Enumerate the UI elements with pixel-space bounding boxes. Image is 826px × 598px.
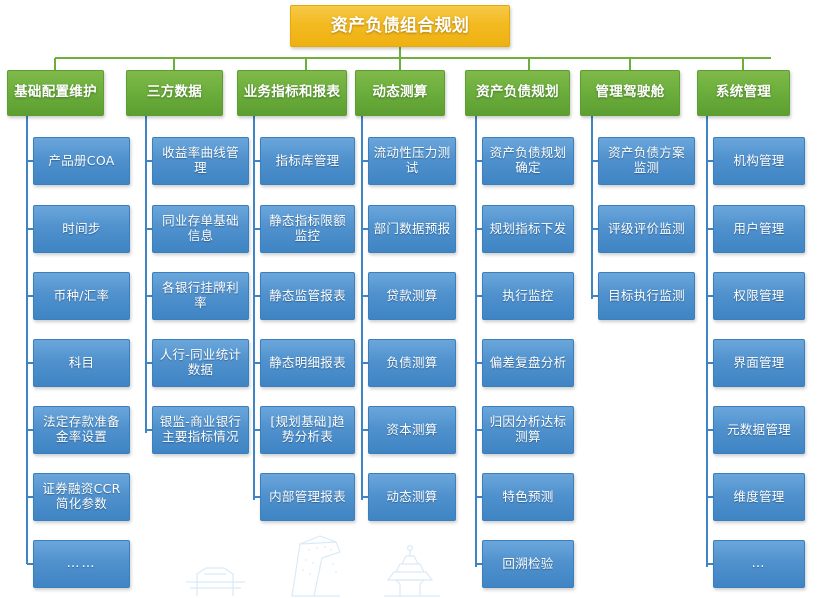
leaf-node-c2-5[interactable]: 银监-商业银行主要指标情况 xyxy=(152,406,249,454)
leaf-node-c1-2[interactable]: 时间步 xyxy=(33,205,130,253)
leaf-node-c1-7[interactable]: …… xyxy=(33,540,130,588)
leaf-node-c5-3[interactable]: 执行监控 xyxy=(482,272,574,320)
leaf-node-c2-1[interactable]: 收益率曲线管理 xyxy=(152,137,249,185)
leaf-node-c7-6[interactable]: 维度管理 xyxy=(713,473,805,521)
leaf-node-c4-1[interactable]: 流动性压力测试 xyxy=(368,137,456,185)
category-node-3[interactable]: 业务指标和报表 xyxy=(237,70,347,116)
leaf-node-c3-6[interactable]: 内部管理报表 xyxy=(260,473,355,521)
leaf-node-c5-5[interactable]: 归因分析达标测算 xyxy=(482,406,574,454)
leaf-node-c6-3[interactable]: 目标执行监测 xyxy=(598,272,695,320)
diagram-canvas: 资产负债组合规划 基础配置维护 三方数据 业务指标和报表 动态测算 资产负债规划… xyxy=(0,0,826,598)
leaf-node-c7-7[interactable]: … xyxy=(713,540,805,588)
leaf-node-c5-6[interactable]: 特色预测 xyxy=(482,473,574,521)
leaf-node-c5-4[interactable]: 偏差复盘分析 xyxy=(482,339,574,387)
root-node[interactable]: 资产负债组合规划 xyxy=(290,5,510,47)
leaf-node-c4-5[interactable]: 资本测算 xyxy=(368,406,456,454)
category-node-1[interactable]: 基础配置维护 xyxy=(7,70,104,116)
leaf-node-c1-1[interactable]: 产品册COA xyxy=(33,137,130,185)
leaf-node-c6-2[interactable]: 评级评价监测 xyxy=(598,205,695,253)
leaf-node-c4-2[interactable]: 部门数据预报 xyxy=(368,205,456,253)
leaf-node-c2-2[interactable]: 同业存单基础信息 xyxy=(152,205,249,253)
leaf-node-c5-7[interactable]: 回溯检验 xyxy=(482,540,574,588)
leaf-node-c3-4[interactable]: 静态明细报表 xyxy=(260,339,355,387)
leaf-node-c7-1[interactable]: 机构管理 xyxy=(713,137,805,185)
leaf-node-c3-3[interactable]: 静态监管报表 xyxy=(260,272,355,320)
leaf-node-c2-3[interactable]: 各银行挂牌利率 xyxy=(152,272,249,320)
leaf-node-c5-1[interactable]: 资产负债规划确定 xyxy=(482,137,574,185)
leaf-node-c7-2[interactable]: 用户管理 xyxy=(713,205,805,253)
leaf-node-c6-1[interactable]: 资产负债方案监测 xyxy=(598,137,695,185)
leaf-node-c4-6[interactable]: 动态测算 xyxy=(368,473,456,521)
leaf-node-c1-3[interactable]: 币种/汇率 xyxy=(33,272,130,320)
category-node-7[interactable]: 系统管理 xyxy=(697,70,790,116)
category-node-5[interactable]: 资产负债规划 xyxy=(465,70,570,116)
leaf-node-c7-3[interactable]: 权限管理 xyxy=(713,272,805,320)
leaf-node-c7-4[interactable]: 界面管理 xyxy=(713,339,805,387)
leaf-node-c3-2[interactable]: 静态指标限额监控 xyxy=(260,205,355,253)
category-node-4[interactable]: 动态测算 xyxy=(355,70,445,116)
leaf-node-c1-5[interactable]: 法定存款准备金率设置 xyxy=(33,406,130,454)
leaf-node-c1-4[interactable]: 科目 xyxy=(33,339,130,387)
leaf-node-c2-4[interactable]: 人行-同业统计数据 xyxy=(152,339,249,387)
leaf-node-c3-1[interactable]: 指标库管理 xyxy=(260,137,355,185)
category-node-6[interactable]: 管理驾驶舱 xyxy=(580,70,680,116)
leaf-node-c4-4[interactable]: 负债测算 xyxy=(368,339,456,387)
leaf-node-c4-3[interactable]: 贷款测算 xyxy=(368,272,456,320)
leaf-node-c7-5[interactable]: 元数据管理 xyxy=(713,406,805,454)
category-node-2[interactable]: 三方数据 xyxy=(126,70,223,116)
leaf-node-c5-2[interactable]: 规划指标下发 xyxy=(482,205,574,253)
leaf-node-c3-5[interactable]: [规划基础]趋势分析表 xyxy=(260,406,355,454)
leaf-node-c1-6[interactable]: 证券融资CCR简化参数 xyxy=(33,473,130,521)
